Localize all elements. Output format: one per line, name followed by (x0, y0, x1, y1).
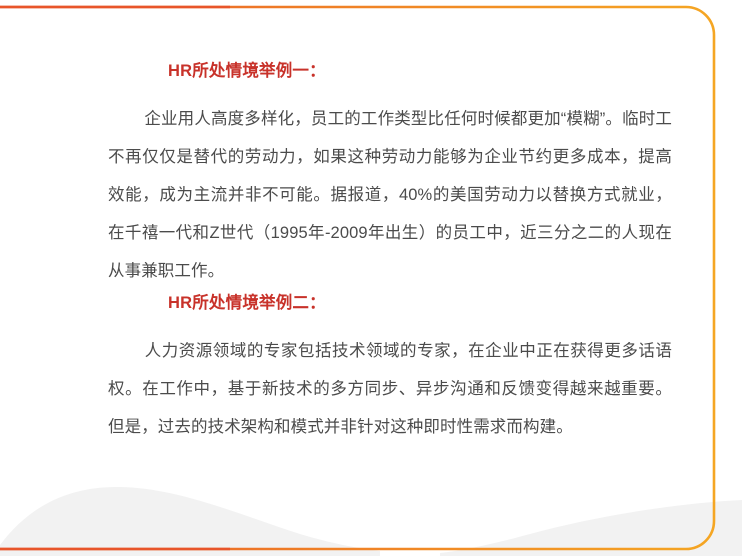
section-paragraph-2: 人力资源领域的专家包括技术领域的专家，在企业中正在获得更多话语权。在工作中，基于… (108, 332, 672, 446)
section-heading-1: HR所处情境举例一： (168, 57, 326, 81)
document-page: HR所处情境举例一： 企业用人高度多样化，员工的工作类型比任何时候都更加“模糊”… (0, 0, 742, 556)
wave-right-shape (440, 500, 742, 556)
section-paragraph-1-text: 企业用人高度多样化，员工的工作类型比任何时候都更加“模糊”。临时工不再仅仅是替代… (108, 110, 672, 280)
section-heading-2: HR所处情境举例二： (168, 289, 326, 313)
section-paragraph-1: 企业用人高度多样化，员工的工作类型比任何时候都更加“模糊”。临时工不再仅仅是替代… (108, 100, 672, 290)
wave-left-shape (0, 487, 380, 556)
section-paragraph-2-text: 人力资源领域的专家包括技术领域的专家，在企业中正在获得更多话语权。在工作中，基于… (108, 342, 672, 436)
